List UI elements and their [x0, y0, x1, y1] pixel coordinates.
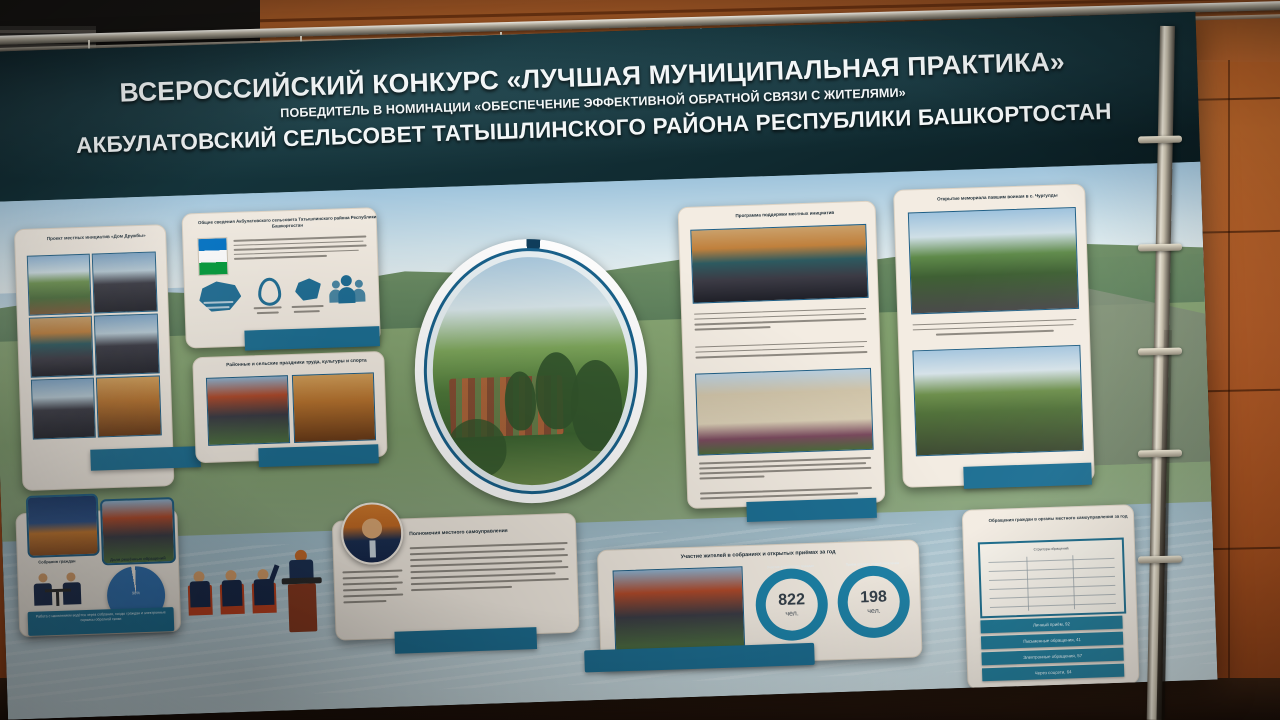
bar-label: Через соцсети, 64	[982, 667, 1124, 677]
table-caption: Структура обращений	[988, 545, 1114, 553]
table-leg	[56, 592, 59, 606]
bar-row: Электронные обращения, 57	[981, 648, 1123, 666]
donut-unit: чел.	[867, 607, 881, 614]
photo-village-meeting-hall	[690, 224, 868, 304]
donut-value: 822	[778, 592, 805, 609]
bar-label: Письменные обращения, 41	[981, 635, 1123, 645]
presentation-banner: ВСЕРОССИЙСКИЙ КОНКУРС «ЛУЧШАЯ МУНИЦИПАЛЬ…	[0, 12, 1217, 720]
photo-renovated-building	[695, 368, 874, 456]
requests-table: Структура обращений	[978, 538, 1126, 619]
bar-row: Личный приём, 92	[980, 616, 1122, 634]
post-clip	[1138, 348, 1182, 356]
card-about-settlement[interactable]: Общие сведения Акбулатовского сельсовета…	[181, 207, 380, 348]
card-body-paragraph-3	[699, 454, 872, 483]
tree	[570, 359, 624, 452]
photo-village-assembly	[613, 566, 746, 652]
portrait-face	[361, 518, 383, 538]
donut-sobraniya: 822 чел.	[755, 567, 829, 641]
card-dom-druzhby[interactable]: Проект местных инициатив «Дом Дружбы»	[14, 224, 175, 491]
tree	[446, 418, 507, 479]
roundtable-figure-head	[66, 572, 75, 581]
photo-hall-interior	[96, 375, 162, 437]
card-polnomochiya[interactable]: Полномочия местного самоуправления	[332, 513, 580, 641]
card-tos[interactable]: Собрания граждан Доля решённых обращений…	[15, 508, 181, 637]
card-body-text	[233, 232, 367, 262]
card-title: Районные и сельские праздники труда, кул…	[193, 357, 399, 370]
head-of-settlement-portrait	[340, 501, 404, 565]
roundtable-figure-head	[38, 573, 47, 582]
card-footer-banner	[90, 446, 201, 471]
photo-group-portrait	[31, 378, 96, 440]
card-title: Полномочия местного самоуправления	[409, 526, 569, 537]
bar-label: Личный приём, 92	[981, 619, 1123, 629]
card-title: Обращения граждан в органы местного само…	[963, 513, 1153, 525]
card-body-text-left	[342, 565, 403, 607]
assembly-illustration	[182, 539, 325, 640]
subtitle-left: Собрания граждан	[22, 558, 92, 565]
post-clip	[1138, 136, 1182, 144]
photo-scene: ВСЕРОССИЙСКИЙ КОНКУРС «ЛУЧШАЯ МУНИЦИПАЛЬ…	[0, 0, 1280, 720]
photo-village-street	[27, 254, 92, 316]
card-footer-text: Работа с населением ведётся через собран…	[34, 610, 169, 632]
card-body-paragraph-1	[694, 304, 867, 334]
card-prazdniki[interactable]: Районные и сельские праздники труда, кул…	[192, 351, 387, 463]
card-obrashcheniya[interactable]: Обращения граждан в органы местного само…	[962, 504, 1140, 690]
photo-school-class	[29, 316, 94, 378]
location-pin-icon	[258, 277, 282, 306]
bar-label: Электронные обращения, 57	[982, 651, 1124, 661]
photo-village-gathering	[92, 251, 158, 313]
district-map-icon	[295, 278, 322, 301]
card-footer-banner	[963, 463, 1092, 489]
post-clip	[1138, 556, 1182, 564]
card-ppmi[interactable]: Программа поддержки местных инициатив	[678, 201, 886, 509]
bar-row: Письменные обращения, 41	[981, 632, 1123, 650]
card-body-paragraph-2	[695, 337, 868, 362]
podium	[288, 583, 318, 632]
donut-priem: 198 чел.	[837, 565, 911, 639]
roundtable-figure-body	[34, 583, 53, 606]
card-body-text	[912, 315, 1077, 340]
card-body-text	[410, 538, 570, 595]
card-footer-banner: Работа с населением ведётся через собран…	[28, 607, 175, 636]
photo-memorial-opening	[908, 207, 1079, 315]
bashkortostan-flag-icon	[197, 237, 228, 276]
card-memorial[interactable]: Открытие мемориала павшим воинам в с. Чу…	[893, 184, 1095, 488]
bar-row: Через соцсети, 64	[982, 664, 1124, 682]
village-medallion	[411, 235, 652, 507]
post-clip	[1138, 244, 1182, 252]
card-title: Участие жителей в собраниях и открытых п…	[598, 546, 918, 563]
people-group-icon	[341, 275, 352, 286]
card-footer-banner	[258, 444, 379, 467]
card-title: Открытие мемориала павшим воинам в с. Чу…	[894, 191, 1100, 204]
raised-hand	[269, 564, 280, 583]
photo-schoolchildren-lineup	[912, 345, 1083, 457]
card-title: Проект местных инициатив «Дом Дружбы»	[15, 232, 177, 243]
photo-indoor-ceremony	[292, 372, 376, 443]
card-footer-banner	[394, 627, 537, 654]
donut-unit: чел.	[785, 610, 799, 617]
photo-meeting-room	[26, 494, 100, 558]
card-title: Общие сведения Акбулатовского сельсовета…	[183, 214, 392, 233]
portrait-shirt	[370, 540, 376, 558]
card-title: Программа поддержки местных инициатив	[679, 208, 891, 221]
photo-outdoor-crowd	[94, 313, 160, 375]
roundtable-figure-body	[63, 582, 82, 605]
donut-value: 198	[860, 589, 887, 606]
photo-outdoor-festival	[206, 375, 290, 446]
post-clip	[1138, 450, 1182, 458]
